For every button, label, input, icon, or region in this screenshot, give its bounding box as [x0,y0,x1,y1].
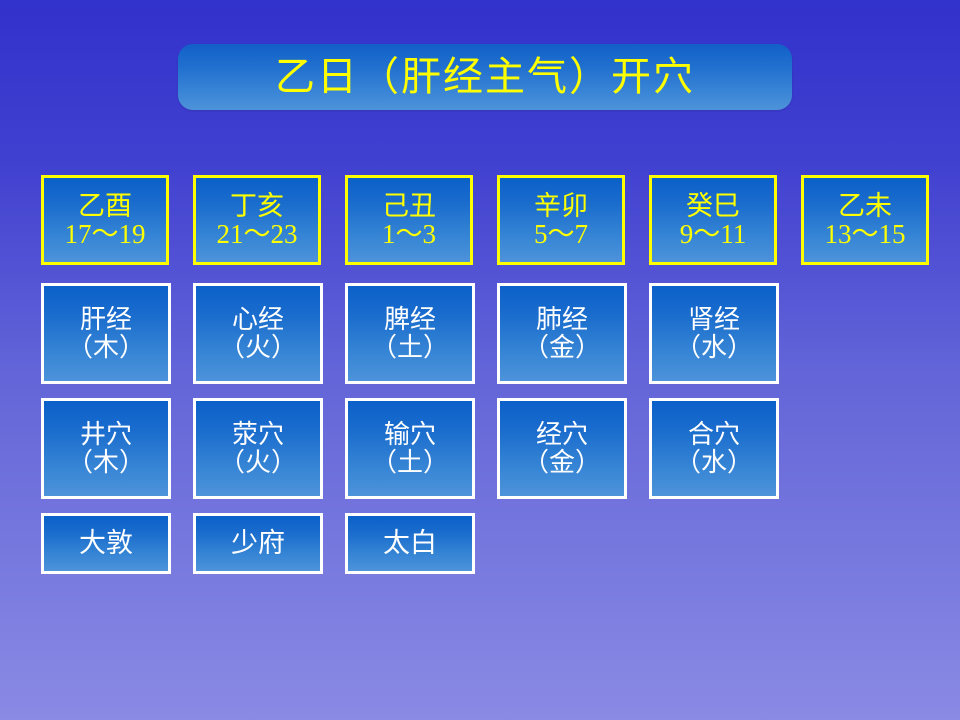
hour-range-label: 17～19 [65,220,146,248]
point-type-cell-3[interactable]: 输穴 （土） [345,398,475,499]
hour-cell-2[interactable]: 丁亥 21～23 [193,175,321,265]
acupoint-cell-1[interactable]: 大敦 [41,513,171,574]
meridian-element-label: （金） [523,334,601,361]
point-type-label: 合穴 [688,421,740,448]
hour-cell-5[interactable]: 癸巳 9～11 [649,175,777,265]
meridian-element-label: （水） [675,334,753,361]
hour-cell-3[interactable]: 己丑 1～3 [345,175,473,265]
meridian-name-label: 肺经 [536,306,588,333]
acupoint-cell-3[interactable]: 太白 [345,513,475,574]
point-element-label: （火） [219,449,297,476]
hour-range-label: 9～11 [680,220,747,248]
meridian-cell-4[interactable]: 肺经 （金） [497,283,627,384]
meridian-element-label: （木） [67,334,145,361]
slide-canvas: 乙日（肝经主气）开穴 乙酉 17～19 丁亥 21～23 己丑 1～3 辛卯 5… [0,0,960,720]
hour-range-label: 1～3 [382,220,436,248]
hour-range-label: 21～23 [217,220,298,248]
meridian-cell-2[interactable]: 心经 （火） [193,283,323,384]
acupoint-cell-2[interactable]: 少府 [193,513,323,574]
acupoint-name-label: 少府 [231,529,285,557]
acupoint-name-label: 太白 [383,529,437,557]
page-title: 乙日（肝经主气）开穴 [275,57,695,97]
meridian-name-label: 肝经 [80,306,132,333]
hour-branch-label: 辛卯 [534,192,588,220]
hour-range-label: 13～15 [825,220,906,248]
point-type-label: 井穴 [80,421,132,448]
meridian-element-label: （火） [219,334,297,361]
hour-branch-label: 乙未 [838,192,892,220]
point-type-cell-1[interactable]: 井穴 （木） [41,398,171,499]
hour-branch-label: 丁亥 [230,192,284,220]
hour-range-label: 5～7 [534,220,588,248]
meridian-name-label: 脾经 [384,306,436,333]
hour-branch-label: 癸巳 [686,192,740,220]
hour-branch-label: 己丑 [382,192,436,220]
point-type-cell-5[interactable]: 合穴 （水） [649,398,779,499]
meridian-cell-3[interactable]: 脾经 （土） [345,283,475,384]
meridian-name-label: 肾经 [688,306,740,333]
point-type-cell-2[interactable]: 荥穴 （火） [193,398,323,499]
hour-cell-1[interactable]: 乙酉 17～19 [41,175,169,265]
point-type-label: 经穴 [536,421,588,448]
meridian-name-label: 心经 [232,306,284,333]
title-banner: 乙日（肝经主气）开穴 [178,44,792,110]
point-type-label: 输穴 [384,421,436,448]
hour-branch-label: 乙酉 [78,192,132,220]
meridian-cell-5[interactable]: 肾经 （水） [649,283,779,384]
point-element-label: （土） [371,449,449,476]
hour-cell-6[interactable]: 乙未 13～15 [801,175,929,265]
point-element-label: （木） [67,449,145,476]
point-element-label: （金） [523,449,601,476]
meridian-cell-1[interactable]: 肝经 （木） [41,283,171,384]
point-element-label: （水） [675,449,753,476]
point-type-cell-4[interactable]: 经穴 （金） [497,398,627,499]
meridian-element-label: （土） [371,334,449,361]
point-type-label: 荥穴 [232,421,284,448]
acupoint-name-label: 大敦 [79,529,133,557]
hour-cell-4[interactable]: 辛卯 5～7 [497,175,625,265]
